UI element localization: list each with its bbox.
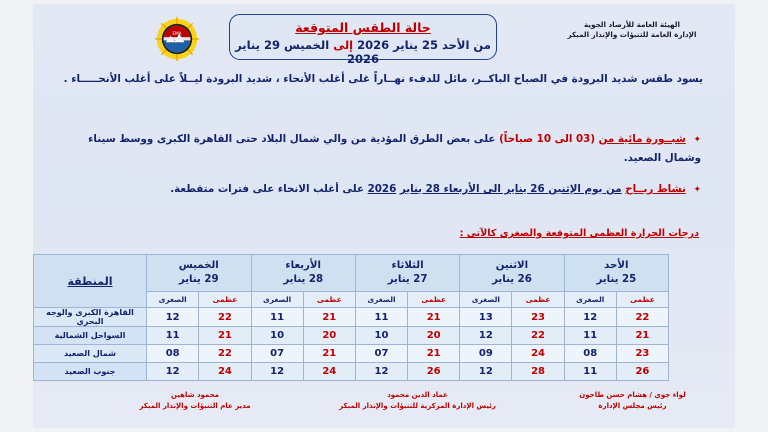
cell-min-r3-d2: 12 bbox=[355, 363, 407, 381]
day-header-4: الخميس 29 يناير bbox=[147, 255, 252, 292]
wind-advisory-bullet: ✦ نشاط ريــاح من يوم الإثنين 26 يناير ال… bbox=[61, 180, 701, 199]
table-row: 22 12 23 13 21 11 21 11 22 12 القاهرة ال… bbox=[34, 308, 669, 327]
sub-header-max-3: عظمى bbox=[303, 292, 355, 308]
organization-block: الهيئة العامة للأرصاد الجوية الإدارة الع… bbox=[537, 20, 727, 41]
table-header-row-days: الأحد 25 يناير الاثنين 26 يناير الثلاثاء… bbox=[34, 255, 669, 292]
sub-header-min-0: الصغرى bbox=[564, 292, 616, 308]
cell-max-r3-d4: 24 bbox=[199, 363, 251, 381]
day-header-2: الثلاثاء 27 يناير bbox=[355, 255, 459, 292]
cell-min-r2-d3: 07 bbox=[251, 345, 303, 363]
cell-min-r0-d3: 11 bbox=[251, 308, 303, 327]
sub-header-max-2: عظمى bbox=[408, 292, 460, 308]
day-date-3: 28 يناير bbox=[252, 273, 355, 287]
cell-max-r0-d4: 22 bbox=[199, 308, 251, 327]
cell-max-r0-d0: 22 bbox=[616, 308, 668, 327]
sub-header-max-4: عظمى bbox=[199, 292, 251, 308]
wind-advisory-lead: نشاط ريــاح bbox=[625, 183, 686, 195]
forecast-title-box: حالة الطقس المتوقعة من الأحد 25 يناير 20… bbox=[229, 14, 497, 60]
fog-advisory-bullet: ✦ شبــورة مائية من (03 الى 10 صباحاً) عل… bbox=[61, 130, 701, 167]
cell-min-r1-d1: 12 bbox=[460, 327, 512, 345]
day-date-4: 29 يناير bbox=[147, 273, 251, 287]
organization-line-2: الإدارة العامة للتنبؤات والإنذار المبكر bbox=[537, 30, 727, 40]
day-header-0: الأحد 25 يناير bbox=[564, 255, 668, 292]
document-page: الهيئة العامة للأرصاد الجوية الإدارة الع… bbox=[33, 4, 735, 428]
signature-role-3: رئيس مجلس الإدارة bbox=[540, 401, 725, 412]
table-row: 23 08 24 09 21 07 21 07 22 08 شمال الصعي… bbox=[34, 345, 669, 363]
signature-role-2: رئيس الإدارة المركزية للتنبؤات والإنذار … bbox=[310, 401, 525, 412]
table-body: 22 12 23 13 21 11 21 11 22 12 القاهرة ال… bbox=[34, 308, 669, 381]
signature-block-1: محمود شاهين مدير عام التنبؤات والإنذار ا… bbox=[95, 390, 295, 411]
sub-header-min-3: الصغرى bbox=[251, 292, 303, 308]
day-name-0: الأحد bbox=[565, 259, 668, 273]
cell-max-r2-d4: 22 bbox=[199, 345, 251, 363]
table-row: 26 11 28 12 26 12 24 12 24 12 جنوب الصعي… bbox=[34, 363, 669, 381]
svg-text:EMA: EMA bbox=[173, 31, 182, 36]
cell-max-r3-d0: 26 bbox=[616, 363, 668, 381]
region-label-1: السواحل الشمالية bbox=[34, 327, 147, 345]
cell-min-r3-d4: 12 bbox=[147, 363, 199, 381]
cell-max-r1-d2: 20 bbox=[408, 327, 460, 345]
cell-min-r0-d1: 13 bbox=[460, 308, 512, 327]
cell-max-r1-d0: 21 bbox=[616, 327, 668, 345]
date-range-start: من الأحد 25 يناير 2026 bbox=[357, 38, 491, 52]
forecast-date-range: من الأحد 25 يناير 2026 إلى الخميس 29 ينا… bbox=[230, 38, 496, 66]
cell-max-r1-d4: 21 bbox=[199, 327, 251, 345]
sub-header-min-4: الصغرى bbox=[147, 292, 199, 308]
day-name-2: الثلاثاء bbox=[356, 259, 459, 273]
wind-advisory-detail: على أغلب الانحاء على فترات متقطعة. bbox=[170, 183, 364, 195]
cell-max-r2-d3: 21 bbox=[303, 345, 355, 363]
day-name-1: الاثنين bbox=[460, 259, 563, 273]
region-label-2: شمال الصعيد bbox=[34, 345, 147, 363]
sub-header-min-2: الصغرى bbox=[355, 292, 407, 308]
signature-name-1: محمود شاهين bbox=[95, 390, 295, 401]
cell-max-r0-d2: 21 bbox=[408, 308, 460, 327]
cell-min-r0-d4: 12 bbox=[147, 308, 199, 327]
day-header-1: الاثنين 26 يناير bbox=[460, 255, 564, 292]
day-date-2: 27 يناير bbox=[356, 273, 459, 287]
region-label-0: القاهرة الكبرى والوجه البحري bbox=[34, 308, 147, 327]
cell-max-r1-d1: 22 bbox=[512, 327, 564, 345]
cell-min-r3-d1: 12 bbox=[460, 363, 512, 381]
cell-min-r1-d3: 10 bbox=[251, 327, 303, 345]
wind-advisory-period: من يوم الإثنين 26 يناير الى الأربعاء 28 … bbox=[400, 183, 622, 195]
bullet-marker-icon: ✦ bbox=[693, 185, 701, 195]
cell-max-r2-d2: 21 bbox=[408, 345, 460, 363]
fog-advisory-lead: شبــورة مائية من bbox=[599, 133, 686, 145]
wind-advisory-year: 2026 bbox=[368, 183, 397, 195]
cell-min-r2-d4: 08 bbox=[147, 345, 199, 363]
cell-max-r3-d3: 24 bbox=[303, 363, 355, 381]
cell-max-r2-d0: 23 bbox=[616, 345, 668, 363]
cell-min-r3-d0: 11 bbox=[564, 363, 616, 381]
day-name-3: الأربعاء bbox=[252, 259, 355, 273]
fog-advisory-time: (03 الى 10 صباحاً) bbox=[499, 133, 595, 145]
document-header: الهيئة العامة للأرصاد الجوية الإدارة الع… bbox=[33, 10, 735, 68]
cell-min-r1-d2: 10 bbox=[355, 327, 407, 345]
egyptian-meteorological-authority-logo-icon: EMA bbox=[149, 16, 205, 62]
forecast-summary-paragraph: يسود طقس شديد البرودة في الصباح الباكــر… bbox=[61, 70, 703, 89]
table-caption: درجات الحرارة العظمى المتوقعة والصغرى كا… bbox=[460, 228, 699, 239]
cell-min-r1-d0: 11 bbox=[564, 327, 616, 345]
sub-header-max-0: عظمى bbox=[616, 292, 668, 308]
region-label-3: جنوب الصعيد bbox=[34, 363, 147, 381]
document-footer: محمود شاهين مدير عام التنبؤات والإنذار ا… bbox=[33, 388, 735, 424]
bullet-marker-icon: ✦ bbox=[693, 135, 701, 145]
cell-min-r0-d0: 12 bbox=[564, 308, 616, 327]
cell-min-r1-d4: 11 bbox=[147, 327, 199, 345]
cell-min-r2-d1: 09 bbox=[460, 345, 512, 363]
page-title: حالة الطقس المتوقعة bbox=[230, 20, 496, 35]
cell-max-r3-d2: 26 bbox=[408, 363, 460, 381]
cell-min-r0-d2: 11 bbox=[355, 308, 407, 327]
cell-min-r2-d0: 08 bbox=[564, 345, 616, 363]
cell-max-r2-d1: 24 bbox=[512, 345, 564, 363]
table-row: 21 11 22 12 20 10 20 10 21 11 السواحل ال… bbox=[34, 327, 669, 345]
organization-line-1: الهيئة العامة للأرصاد الجوية bbox=[537, 20, 727, 30]
signature-name-3: لواء جوي / هشام حسن طاحون bbox=[540, 390, 725, 401]
cell-min-r2-d2: 07 bbox=[355, 345, 407, 363]
day-name-4: الخميس bbox=[147, 259, 251, 273]
signature-block-3: لواء جوي / هشام حسن طاحون رئيس مجلس الإد… bbox=[540, 390, 725, 411]
cell-max-r3-d1: 28 bbox=[512, 363, 564, 381]
date-range-connector: إلى bbox=[333, 38, 353, 52]
sub-header-min-1: الصغرى bbox=[460, 292, 512, 308]
cell-max-r0-d1: 23 bbox=[512, 308, 564, 327]
cell-min-r3-d3: 12 bbox=[251, 363, 303, 381]
forecast-summary-text: يسود طقس شديد البرودة في الصباح الباكــر… bbox=[64, 73, 703, 85]
region-column-header: المنطقة bbox=[34, 255, 147, 308]
signature-role-1: مدير عام التنبؤات والإنذار المبكر bbox=[95, 401, 295, 412]
document-sheet: الهيئة العامة للأرصاد الجوية الإدارة الع… bbox=[33, 4, 735, 428]
sub-header-max-1: عظمى bbox=[512, 292, 564, 308]
cell-max-r1-d3: 20 bbox=[303, 327, 355, 345]
day-date-0: 25 يناير bbox=[565, 273, 668, 287]
temperature-forecast-table: الأحد 25 يناير الاثنين 26 يناير الثلاثاء… bbox=[33, 254, 669, 381]
day-date-1: 26 يناير bbox=[460, 273, 563, 287]
cell-max-r0-d3: 21 bbox=[303, 308, 355, 327]
day-header-3: الأربعاء 28 يناير bbox=[251, 255, 355, 292]
signature-block-2: عماد الدين محمود رئيس الإدارة المركزية ل… bbox=[310, 390, 525, 411]
signature-name-2: عماد الدين محمود bbox=[310, 390, 525, 401]
